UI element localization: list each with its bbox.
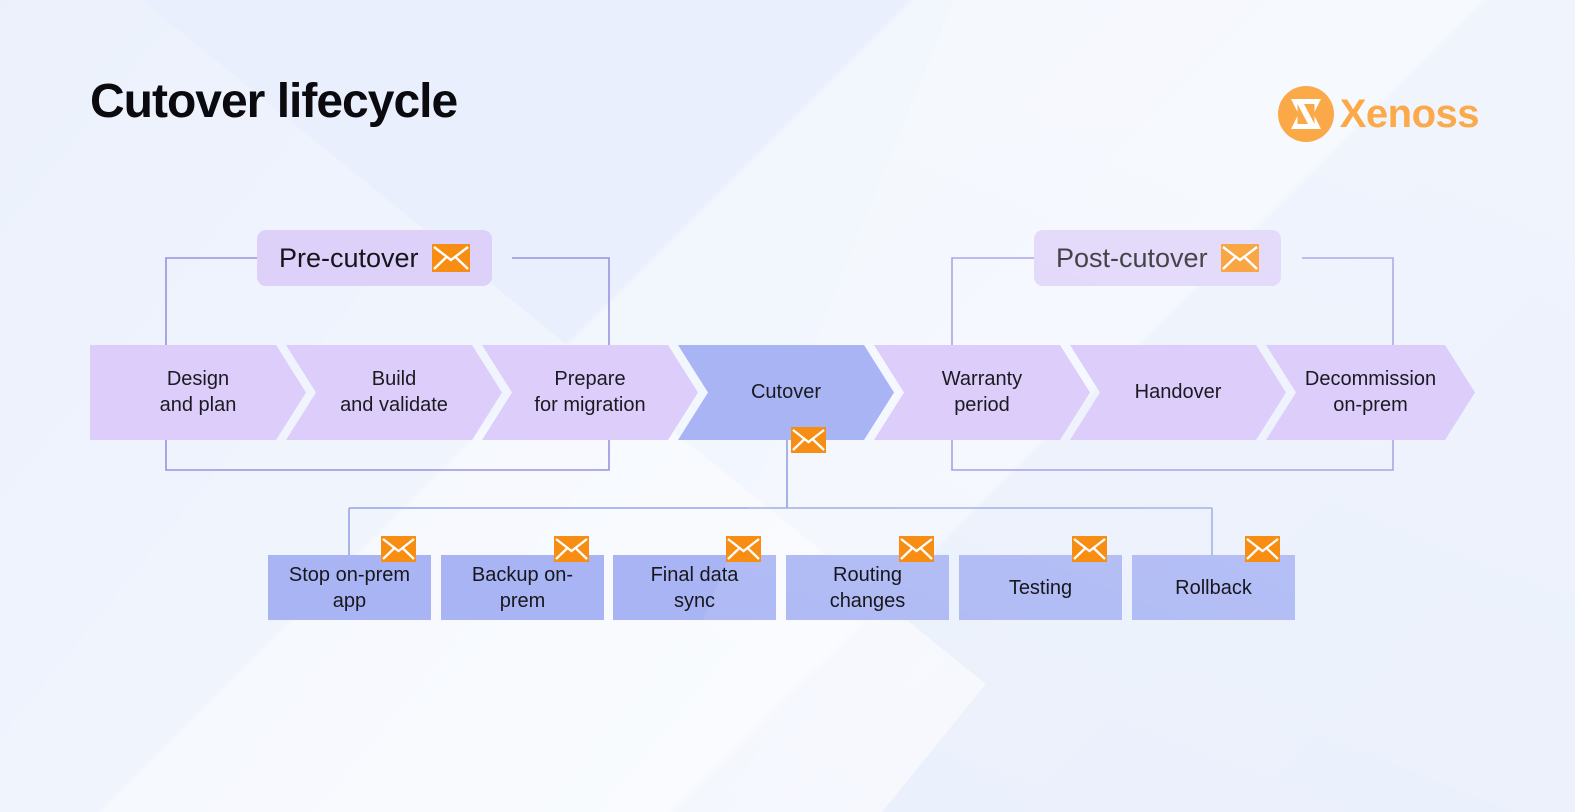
stage-cutover[interactable]: Cutover xyxy=(678,345,894,440)
envelope-icon[interactable] xyxy=(726,536,761,562)
stage-label: Build and validate xyxy=(340,367,448,418)
task-label: Final data sync xyxy=(651,562,739,614)
envelope-icon[interactable] xyxy=(554,536,589,562)
task-label: Backup on- prem xyxy=(472,562,573,614)
task-backup-on-prem[interactable]: Backup on- prem xyxy=(441,555,604,620)
lifecycle-pipeline: Design and plan Build and validate xyxy=(90,345,1475,440)
task-routing-changes[interactable]: Routing changes xyxy=(786,555,949,620)
stage-label: Warranty period xyxy=(942,367,1022,418)
stage-build-and-validate[interactable]: Build and validate xyxy=(286,345,502,440)
task-label: Rollback xyxy=(1175,575,1252,601)
task-label: Testing xyxy=(1009,575,1072,601)
task-stop-on-prem-app[interactable]: Stop on-prem app xyxy=(268,555,431,620)
stage-decommission-on-prem[interactable]: Decommission on-prem xyxy=(1266,345,1475,440)
stage-design-and-plan[interactable]: Design and plan xyxy=(90,345,306,440)
diagram-canvas: Cutover lifecycle Xenoss Pre-cutover xyxy=(0,0,1575,812)
task-rollback[interactable]: Rollback xyxy=(1132,555,1295,620)
stage-label: Cutover xyxy=(751,380,821,406)
envelope-icon[interactable] xyxy=(791,427,826,453)
envelope-icon[interactable] xyxy=(899,536,934,562)
stage-label: Prepare for migration xyxy=(534,367,645,418)
stage-prepare-for-migration[interactable]: Prepare for migration xyxy=(482,345,698,440)
envelope-icon[interactable] xyxy=(1245,536,1280,562)
stage-handover[interactable]: Handover xyxy=(1070,345,1286,440)
task-label: Routing changes xyxy=(830,562,906,614)
stage-label: Handover xyxy=(1135,380,1222,406)
envelope-icon[interactable] xyxy=(381,536,416,562)
envelope-icon[interactable] xyxy=(1072,536,1107,562)
stage-label: Decommission on-prem xyxy=(1305,367,1436,418)
task-testing[interactable]: Testing xyxy=(959,555,1122,620)
stage-warranty-period[interactable]: Warranty period xyxy=(874,345,1090,440)
task-final-data-sync[interactable]: Final data sync xyxy=(613,555,776,620)
stage-label: Design and plan xyxy=(160,367,237,418)
task-label: Stop on-prem app xyxy=(289,562,410,614)
